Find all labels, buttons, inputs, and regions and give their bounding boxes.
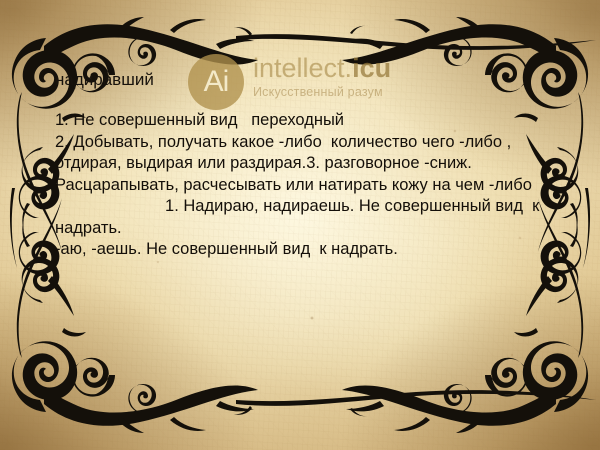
entry-headword: надиравший [55,70,154,90]
entry-definition-text: 1. Не совершенный вид переходный 2. Добы… [55,110,555,261]
parchment-card: Ai intellect.icu Искусственный разум над… [0,0,600,450]
dictionary-entry: надиравший 1. Не совершенный вид переход… [0,0,600,450]
